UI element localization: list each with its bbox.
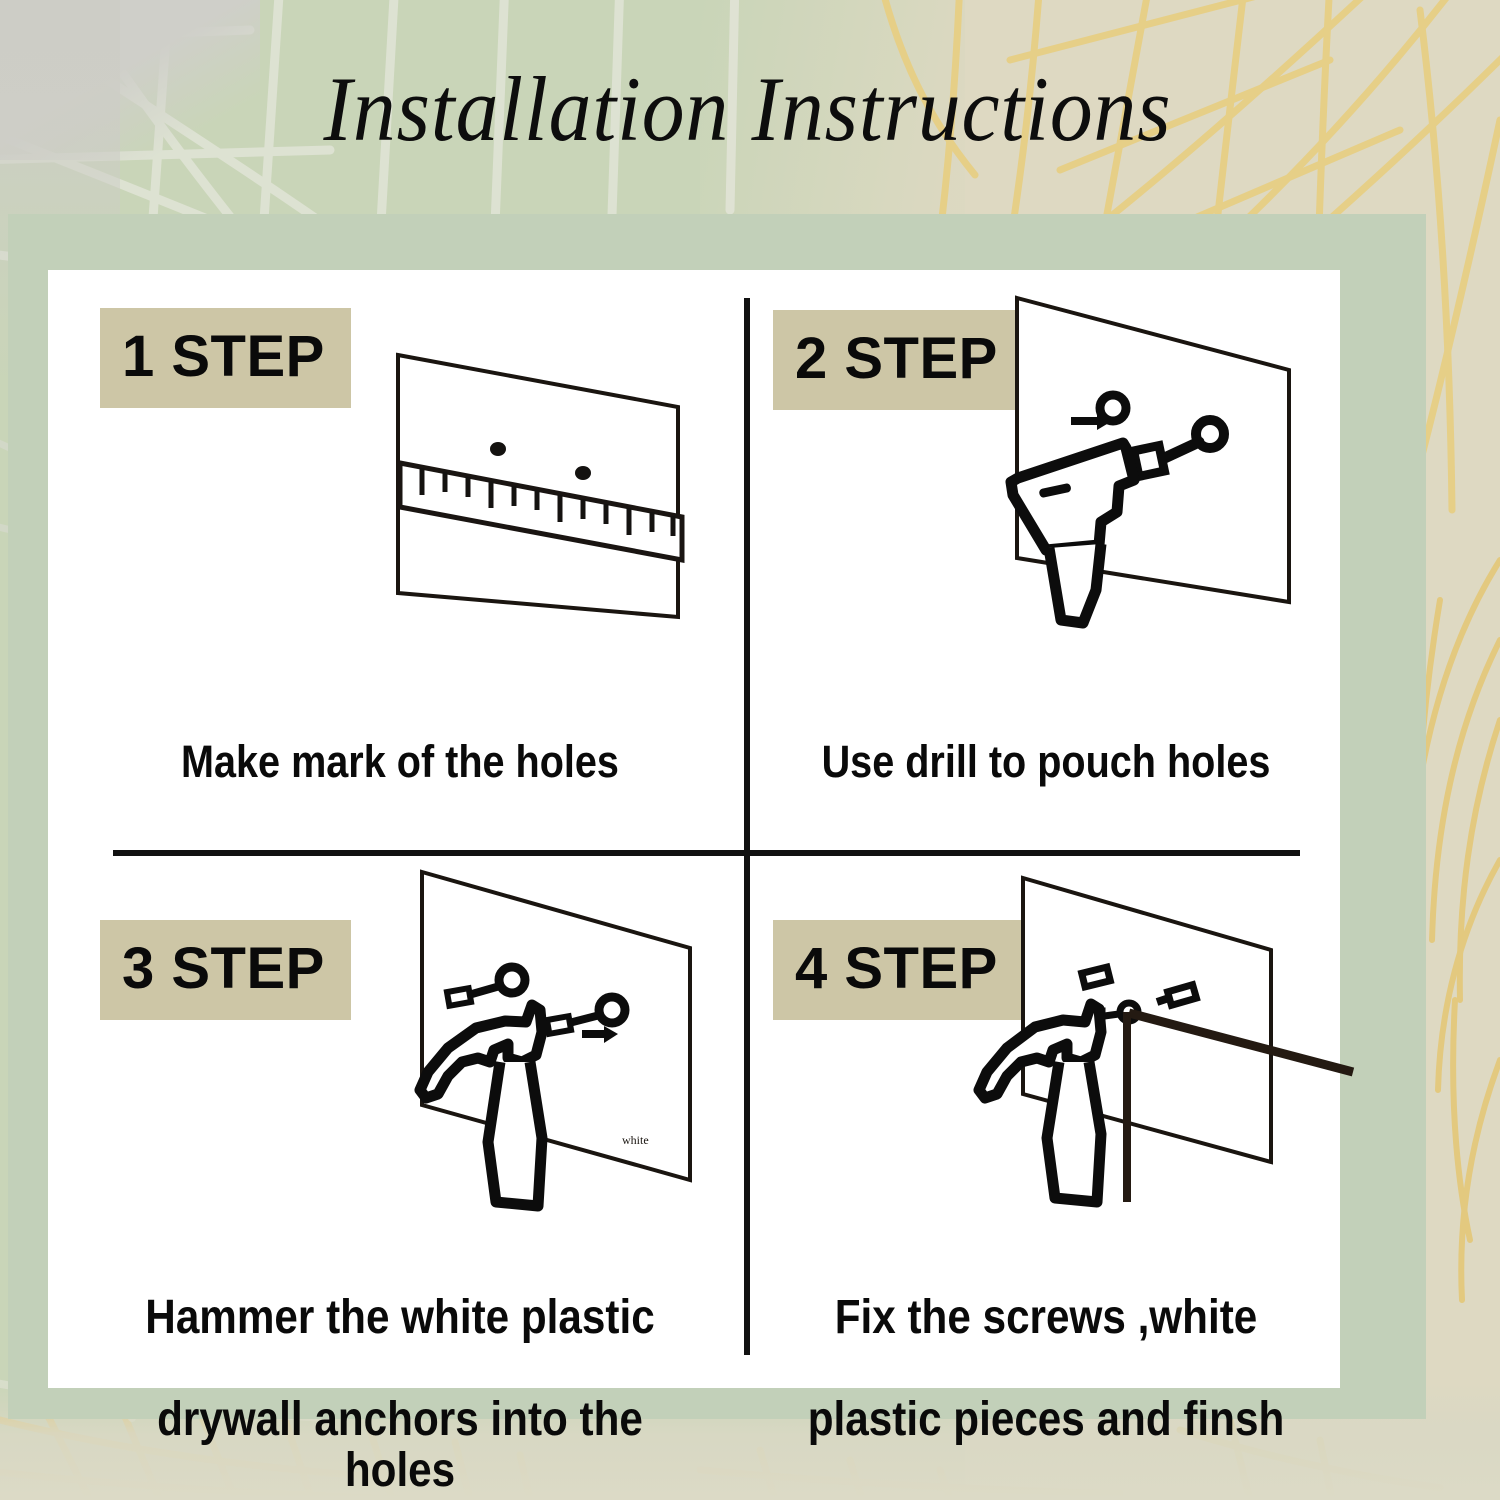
page-title: Installation Instructions xyxy=(52,56,1442,162)
hole-mark-dot xyxy=(490,442,506,456)
plastic-piece xyxy=(1082,967,1111,987)
hole-mark-dot xyxy=(575,466,591,480)
step-cell-2: 2 STEP Use drill to pouch holes xyxy=(756,290,1336,845)
ruler-illustration xyxy=(390,345,690,650)
caption-line: Fix the screws ,white xyxy=(791,1293,1301,1344)
step-caption-4: Fix the screws ,white plastic pieces and… xyxy=(791,1242,1301,1496)
step-caption-1: Make mark of the holes xyxy=(101,690,699,833)
hammer-anchors-illustration: white xyxy=(390,862,720,1217)
caption-line: drywall anchors into the holes xyxy=(101,1395,699,1497)
step-badge-3: 3 STEP xyxy=(100,920,351,1020)
step-badge-1: 1 STEP xyxy=(100,308,351,408)
caption-line: plastic pieces and finsh xyxy=(791,1395,1301,1446)
step-cell-3: 3 STEP white xyxy=(60,862,740,1362)
step-cell-1: 1 STEP xyxy=(60,290,740,845)
grid-divider-horizontal xyxy=(113,850,1300,856)
caption-line: Make mark of the holes xyxy=(101,738,699,786)
drill-illustration xyxy=(971,290,1321,630)
grid-divider-vertical xyxy=(744,298,750,1355)
caption-line: Hammer the white plastic xyxy=(101,1293,699,1344)
step-cell-4: 4 STEP Fix the screws , xyxy=(756,862,1336,1362)
caption-line: Use drill to pouch holes xyxy=(791,738,1301,786)
step-caption-3: Hammer the white plastic drywall anchors… xyxy=(101,1242,699,1500)
screws-finish-illustration xyxy=(961,872,1361,1217)
step-caption-2: Use drill to pouch holes xyxy=(791,690,1301,833)
panel-note-white: white xyxy=(622,1133,649,1147)
installation-instructions-poster: Installation Instructions 1 STEP xyxy=(0,0,1500,1500)
